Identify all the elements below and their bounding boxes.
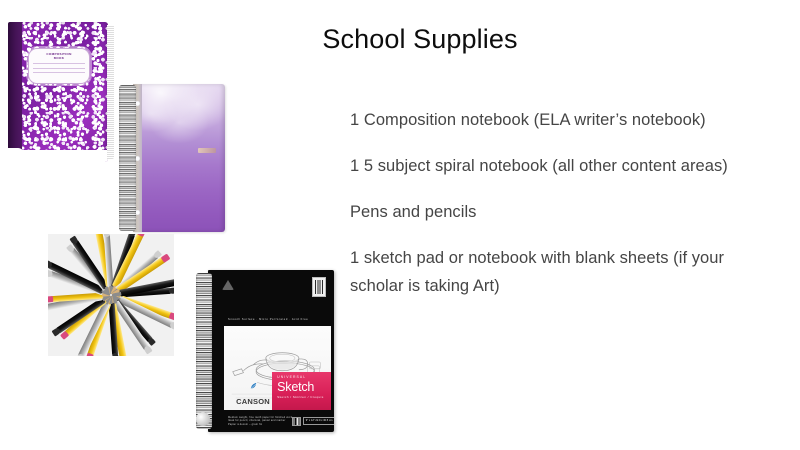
sketch-pad-coil-end-tab bbox=[196, 412, 210, 426]
list-item: Pens and pencils bbox=[350, 198, 775, 226]
composition-notebook-page-edges bbox=[107, 25, 114, 159]
sketch-pad-footer-strip: Medium weight, fine tooth paper for fini… bbox=[224, 410, 331, 432]
sketch-pad-series-label: UNIVERSAL bbox=[277, 375, 327, 380]
spiral-notebook-foil-logo bbox=[198, 148, 216, 153]
sketch-pad-spec-size: 9" x 12" 22.9 x 30.5 cm bbox=[303, 417, 334, 424]
sketch-pad-spec-icon bbox=[292, 417, 301, 426]
sketch-pad-footer-text: Medium weight, fine tooth paper for fini… bbox=[228, 416, 292, 427]
sketch-pad-spec-group: 9" x 12" 22.9 x 30.5 cm 65 lb 100 g/m² bbox=[292, 417, 334, 426]
sketch-pad-barcode-label bbox=[312, 277, 326, 297]
sketch-pad-subtitle: Sketch / Skizzen / Croquis bbox=[277, 395, 327, 400]
sketch-pad-red-band: UNIVERSAL Sketch Sketch / Skizzen / Croq… bbox=[272, 372, 331, 410]
canson-brand-name: CANSON bbox=[229, 397, 277, 406]
spiral-notebook-wire-coil bbox=[119, 85, 136, 231]
list-item: 1 5 subject spiral notebook (all other c… bbox=[350, 152, 775, 180]
sketch-pad-tagline: Smooth Surface · Micro Perforated · Acid… bbox=[228, 318, 308, 321]
sketch-pad-wire-coil bbox=[196, 273, 212, 429]
composition-label-rules bbox=[33, 63, 85, 73]
page-title: School Supplies bbox=[240, 22, 600, 56]
sketch-pad-triangle-mark bbox=[222, 280, 234, 290]
composition-notebook-cover bbox=[22, 22, 108, 162]
canson-logo: CANSON bbox=[229, 379, 277, 406]
sketch-pad-front-panel: UNIVERSAL Sketch Sketch / Skizzen / Croq… bbox=[224, 326, 331, 410]
list-item: 1 sketch pad or notebook with blank shee… bbox=[350, 244, 775, 300]
pens-and-pencils-image bbox=[48, 234, 174, 356]
composition-notebook-label: COMPOSITION BOOK bbox=[28, 48, 90, 84]
canson-leaf-icon bbox=[249, 382, 258, 391]
sketch-pad-product-name: Sketch bbox=[277, 380, 327, 395]
composition-notebook-image: COMPOSITION BOOK bbox=[8, 22, 116, 162]
spiral-notebook-cover bbox=[133, 84, 225, 232]
spiral-notebook-image bbox=[119, 84, 225, 232]
sketch-pad-footer-line3: Papier à dessin – grain fin bbox=[228, 423, 292, 427]
list-item: 1 Composition notebook (ELA writer’s not… bbox=[350, 106, 775, 134]
sketch-pad-image: Smooth Surface · Micro Perforated · Acid… bbox=[196, 270, 334, 432]
composition-label-line2: BOOK bbox=[33, 56, 85, 60]
slide-canvas: School Supplies COMPOSITION BOOK bbox=[0, 0, 800, 450]
supply-list: 1 Composition notebook (ELA writer’s not… bbox=[350, 106, 775, 300]
sketch-pad-cover: Smooth Surface · Micro Perforated · Acid… bbox=[208, 270, 334, 432]
